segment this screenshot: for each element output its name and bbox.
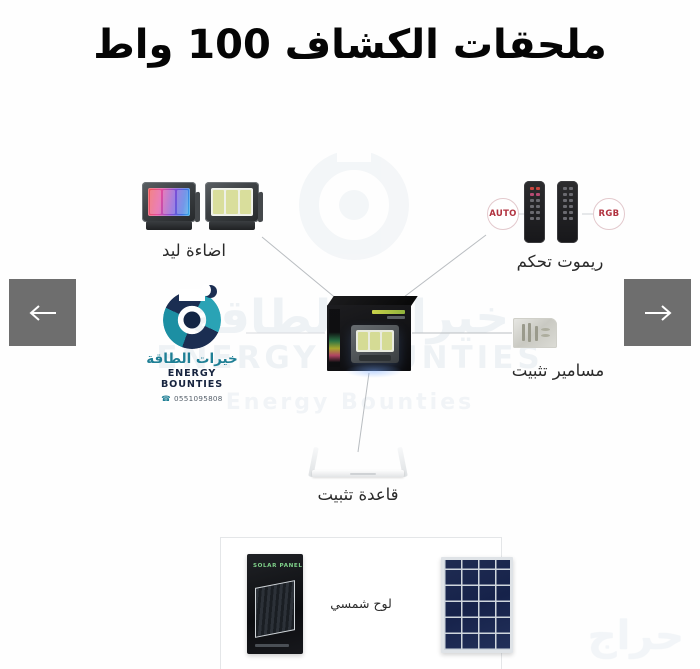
brand-name-arabic: خيرات الطاقة <box>140 351 244 367</box>
led-lights-group[interactable] <box>142 182 259 230</box>
watermark-logo-icon <box>299 150 409 260</box>
mounting-screws-label: مسامير تثبيت <box>498 361 618 380</box>
product-box-lamp-icon <box>351 325 399 363</box>
brand-logo: خيرات الطاقة ENERGY BOUNTIES ☎ 055109580… <box>140 291 244 403</box>
watermark-sub-text: Energy Bounties <box>0 390 700 415</box>
solar-box-title: SOLAR PANEL <box>253 563 303 569</box>
solar-panel-label: لوح شمسي <box>221 596 501 611</box>
arrow-left-icon <box>28 304 58 322</box>
mounting-base-icon[interactable] <box>302 447 414 479</box>
solar-panel-section: SOLAR PANEL لوح شمسي <box>220 537 502 669</box>
brand-name-english: ENERGY BOUNTIES <box>140 368 244 390</box>
floodlight-white-icon <box>205 182 259 230</box>
watermark-haraj: حراج <box>588 613 684 659</box>
prev-button[interactable] <box>9 279 76 346</box>
brand-phone-number: 0551095808 <box>174 394 223 403</box>
badge-auto: AUTO <box>487 198 519 230</box>
floodlight-rgb-icon <box>142 182 196 230</box>
remote-control-group[interactable] <box>524 181 578 243</box>
product-box-glow <box>345 364 403 378</box>
remote-rgb-icon <box>524 181 545 243</box>
next-button[interactable] <box>624 279 691 346</box>
badge-rgb: RGB <box>593 198 625 230</box>
led-lights-label: اضاءة ليد <box>140 241 248 260</box>
phone-icon: ☎ <box>161 394 171 403</box>
page-title: ملحقات الكشاف 100 واط <box>0 20 700 70</box>
product-box[interactable] <box>327 296 411 372</box>
product-box-front <box>327 305 411 371</box>
arrow-right-icon <box>643 304 673 322</box>
brand-logo-icon <box>163 291 221 349</box>
remote-auto-icon <box>557 181 578 243</box>
mounting-screws-icon[interactable] <box>513 318 557 348</box>
remote-control-label: ريموت تحكم <box>500 252 620 271</box>
mounting-base-label: قاعدة تثبيت <box>302 485 414 504</box>
brand-phone: ☎ 0551095808 <box>140 394 244 403</box>
